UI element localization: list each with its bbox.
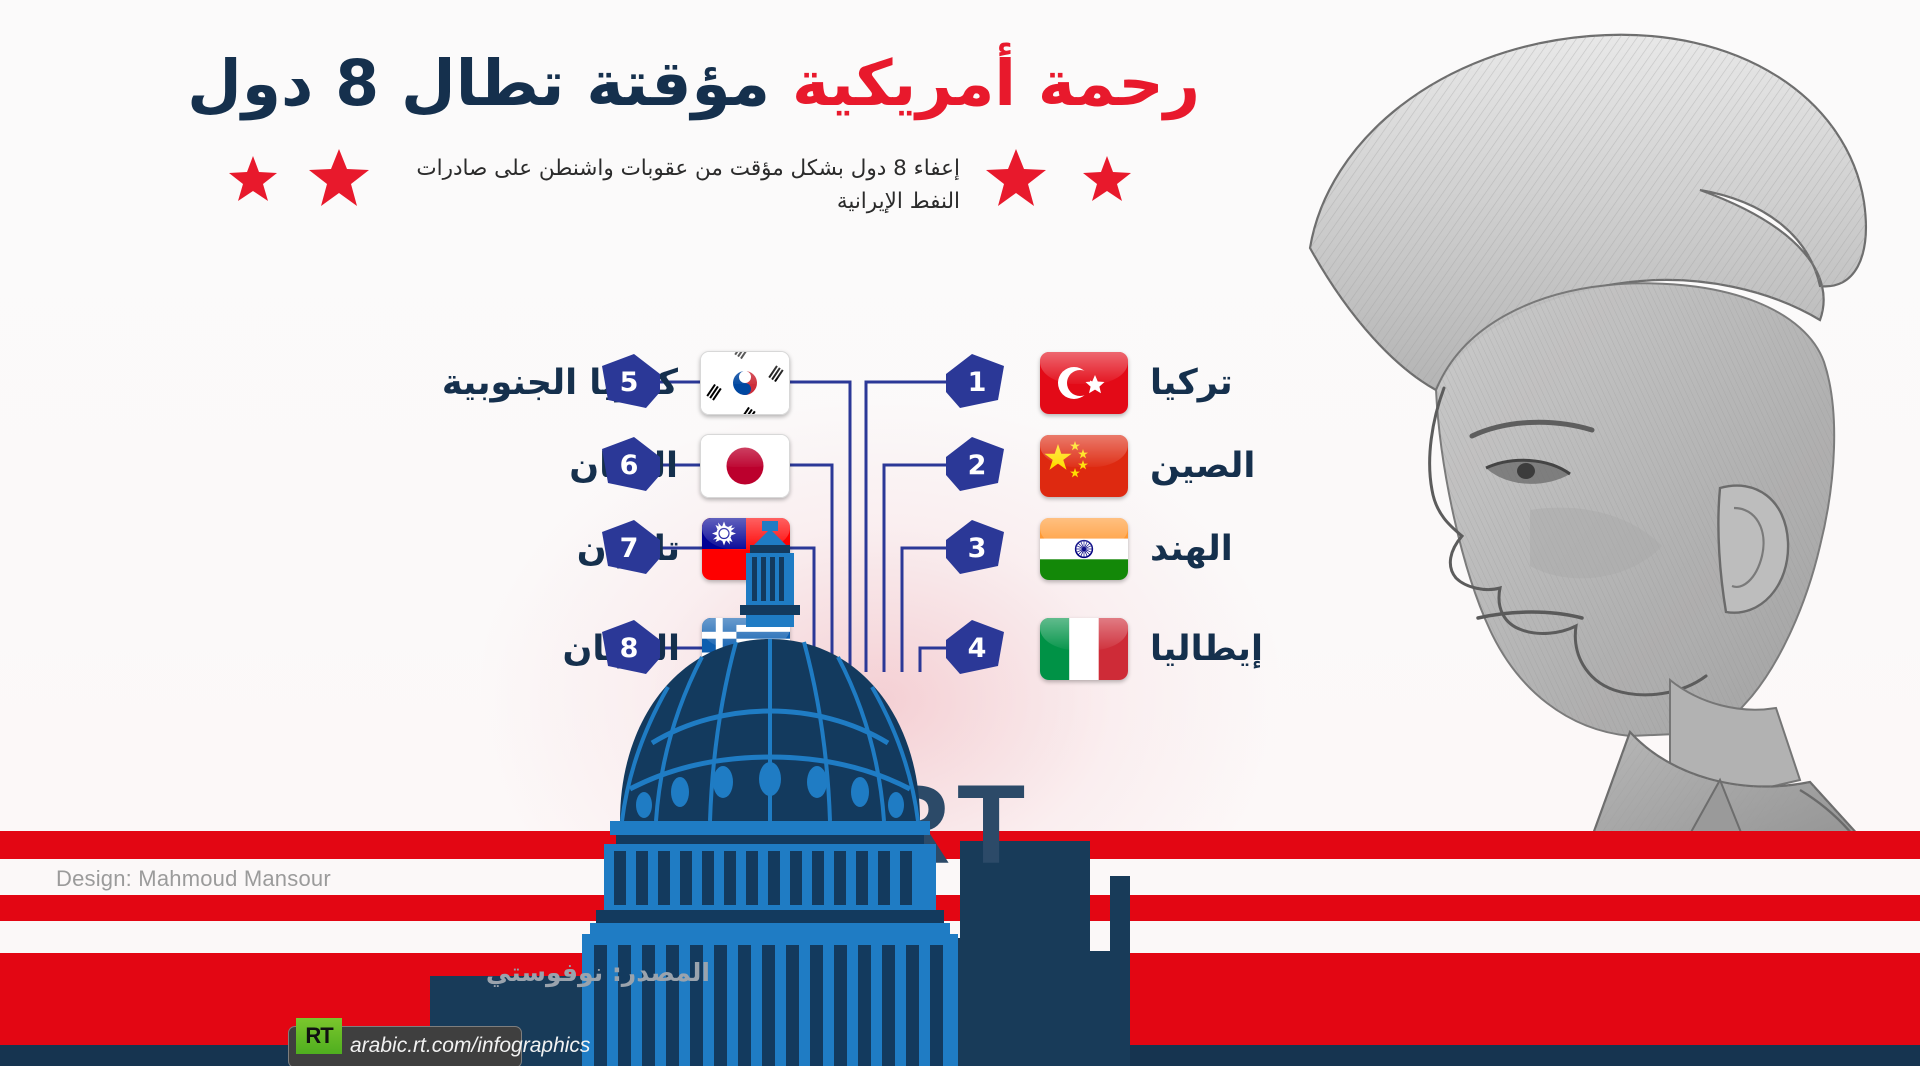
marker-2[interactable]: 2	[946, 437, 1004, 493]
designer-credit: Design: Mahmoud Mansour	[56, 866, 331, 892]
flag-italy	[1040, 618, 1128, 680]
list-item[interactable]: اليابان	[230, 433, 790, 499]
page-subtitle: إعفاء 8 دول بشكل مؤقت من عقوبات واشنطن ع…	[380, 152, 960, 219]
country-label: تركيا	[1150, 366, 1233, 401]
site-url[interactable]: arabic.rt.com/infographics	[350, 1026, 590, 1066]
list-item[interactable]: الصين	[1040, 433, 1255, 499]
marker-number: 2	[946, 437, 1004, 493]
list-item[interactable]: كوريا الجنوبية	[230, 350, 790, 416]
marker-5[interactable]: 5	[602, 354, 660, 410]
title-red-part: رحمة أمريكية	[792, 47, 1200, 120]
trump-portrait-sketch	[1220, 0, 1920, 860]
marker-number: 6	[602, 437, 660, 493]
rt-logo: RT	[296, 1018, 342, 1054]
flag-south-korea	[700, 351, 790, 415]
list-item[interactable]: إيطاليا	[1040, 616, 1263, 682]
flag-china	[1040, 435, 1128, 497]
list-item[interactable]: الهند	[1040, 516, 1233, 582]
list-item[interactable]: تركيا	[1040, 350, 1233, 416]
infographic-canvas: رحمة أمريكية مؤقتة تطال 8 دول إعفاء 8 دو…	[0, 0, 1920, 1066]
flag-india	[1040, 518, 1128, 580]
flag-japan	[700, 434, 790, 498]
flag-turkey	[1040, 352, 1128, 414]
marker-6[interactable]: 6	[602, 437, 660, 493]
source-credit: المصدر: نوفوستي	[390, 958, 710, 987]
country-label: الهند	[1150, 532, 1233, 567]
marker-1[interactable]: 1	[946, 354, 1004, 410]
marker-number: 5	[602, 354, 660, 410]
country-label: إيطاليا	[1150, 632, 1263, 667]
page-title: رحمة أمريكية مؤقتة تطال 8 دول	[120, 48, 1200, 120]
marker-number: 1	[946, 354, 1004, 410]
title-dark-part: مؤقتة تطال 8 دول	[187, 47, 770, 120]
country-label: الصين	[1150, 449, 1255, 484]
